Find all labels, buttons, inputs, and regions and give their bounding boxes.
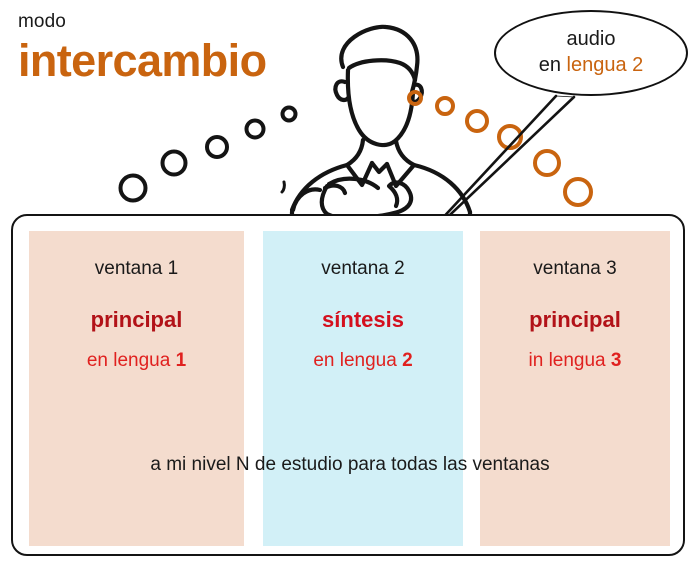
window-name-1: ventana 1 [29,258,244,281]
speech-bubble-line-2-highlight: lengua 2 [567,54,644,76]
window-role-2: síntesis [263,307,463,333]
page-title: intercambio [18,37,338,84]
black-circles-arc [121,108,296,201]
header: modo intercambio [18,12,338,84]
mode-label: modo [18,12,338,33]
window-language-3-prefix: in lengua [529,350,611,371]
speech-bubble-line-2: en lengua 2 [539,53,644,79]
windows-columns: ventana 1 principal en lengua 1 ventana … [29,231,670,546]
window-column-1[interactable]: ventana 1 principal en lengua 1 [29,231,244,546]
window-column-3[interactable]: ventana 3 principal in lengua 3 [480,231,670,546]
window-role-3: principal [480,307,670,333]
window-language-3: in lengua 3 [480,350,670,373]
window-name-3: ventana 3 [480,258,670,281]
speech-bubble: audio en lengua 2 [494,10,688,96]
window-language-2: en lengua 2 [263,350,463,373]
speech-bubble-line-2-prefix: en [539,54,567,76]
window-language-1-number: 1 [176,350,187,371]
window-language-1: en lengua 1 [29,350,244,373]
window-language-3-number: 3 [611,350,622,371]
speech-bubble-line-1: audio [567,27,616,53]
panel-footnote: a mi nivel N de estudio para todas las v… [13,454,687,476]
windows-panel: ventana 1 principal en lengua 1 ventana … [11,214,685,556]
window-language-2-number: 2 [402,350,413,371]
window-name-2: ventana 2 [263,258,463,281]
window-role-1: principal [29,307,244,333]
comma-mark [282,182,284,192]
window-column-2[interactable]: ventana 2 síntesis en lengua 2 [263,231,463,546]
window-language-2-prefix: en lengua [313,350,402,371]
orange-circles-arc [409,92,591,205]
window-language-1-prefix: en lengua [87,350,176,371]
